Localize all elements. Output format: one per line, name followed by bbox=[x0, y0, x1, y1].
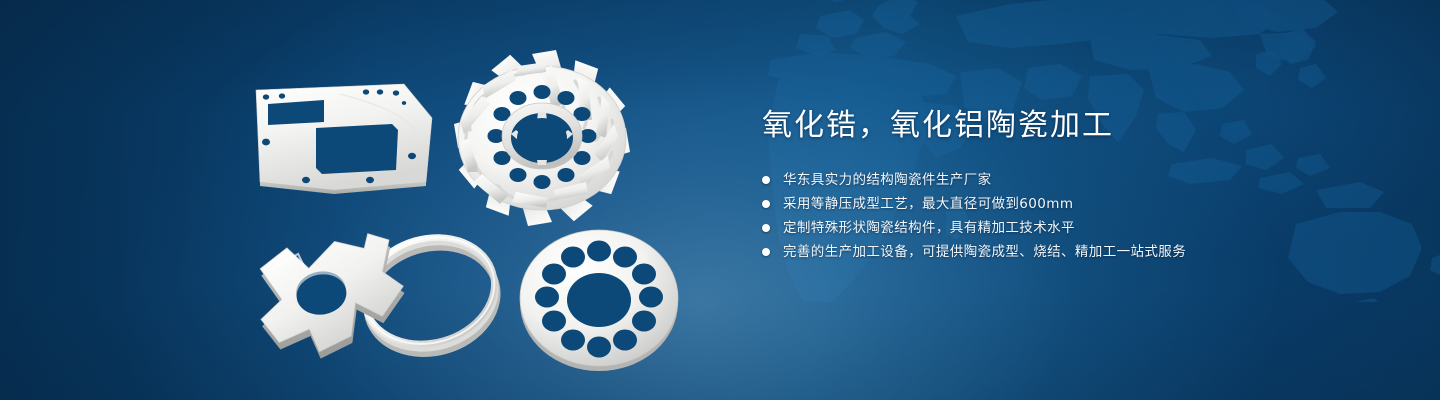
hero-banner: 氧化锆，氧化铝陶瓷加工 华东具实力的结构陶瓷件生产厂家 采用等静压成型工艺，最大… bbox=[0, 0, 1440, 400]
banner-text-block: 氧化锆，氧化铝陶瓷加工 华东具实力的结构陶瓷件生产厂家 采用等静压成型工艺，最大… bbox=[762, 104, 1322, 264]
bullet-dot-icon bbox=[762, 200, 770, 208]
list-item: 定制特殊形状陶瓷结构件，具有精加工技术水平 bbox=[762, 216, 1322, 240]
list-item: 完善的生产加工设备，可提供陶瓷成型、烧结、精加工一站式服务 bbox=[762, 240, 1322, 264]
list-item: 采用等静压成型工艺，最大直径可做到600mm bbox=[762, 192, 1322, 216]
product-images-group bbox=[0, 0, 760, 400]
bullet-dot-icon bbox=[762, 248, 770, 256]
list-item-label: 采用等静压成型工艺，最大直径可做到600mm bbox=[783, 192, 1073, 216]
ceramic-machined-plate-image bbox=[250, 78, 440, 198]
ceramic-perforated-disc-image bbox=[518, 226, 680, 372]
feature-list: 华东具实力的结构陶瓷件生产厂家 采用等静压成型工艺，最大直径可做到600mm 定… bbox=[762, 168, 1322, 264]
list-item-label: 定制特殊形状陶瓷结构件，具有精加工技术水平 bbox=[783, 216, 1075, 240]
page-title: 氧化锆，氧化铝陶瓷加工 bbox=[762, 104, 1322, 148]
list-item-label: 华东具实力的结构陶瓷件生产厂家 bbox=[783, 168, 992, 192]
bullet-dot-icon bbox=[762, 224, 770, 232]
bullet-dot-icon bbox=[762, 176, 770, 184]
ceramic-impeller-image bbox=[452, 50, 632, 225]
list-item: 华东具实力的结构陶瓷件生产厂家 bbox=[762, 168, 1322, 192]
list-item-label: 完善的生产加工设备，可提供陶瓷成型、烧结、精加工一站式服务 bbox=[783, 240, 1186, 264]
ceramic-cross-plate-image bbox=[248, 228, 423, 363]
